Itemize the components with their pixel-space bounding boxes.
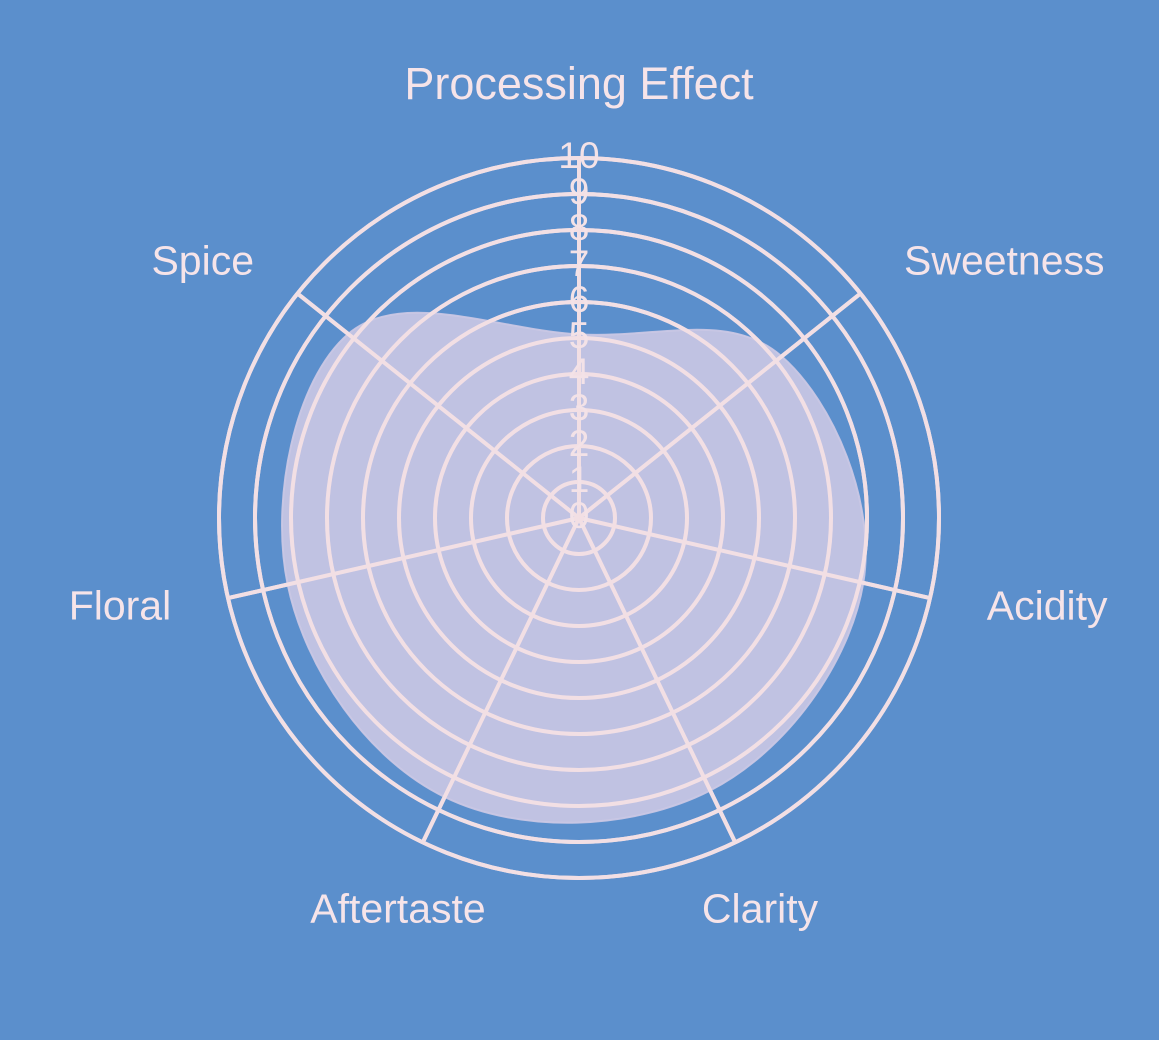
radial-tick-8: 8 [569,207,590,248]
radial-tick-0: 0 [569,495,590,536]
radial-tick-1: 1 [569,459,590,500]
radial-tick-4: 4 [569,351,590,392]
radar-chart-figure: 012345678910 SweetnessAcidityClarityAfte… [0,0,1159,1040]
radial-tick-6: 6 [569,279,590,320]
radial-tick-3: 3 [569,387,590,428]
radial-tick-7: 7 [569,243,590,284]
chart-title: Processing Effect [404,58,754,109]
radar-chart-canvas: 012345678910 SweetnessAcidityClarityAfte… [0,0,1159,1040]
axis-label-sweetness: Sweetness [904,237,1105,283]
axis-label-floral: Floral [69,583,172,629]
radial-tick-2: 2 [569,423,590,464]
radial-tick-5: 5 [569,315,590,356]
radial-tick-10: 10 [558,135,599,176]
axis-label-aftertaste: Aftertaste [310,885,485,931]
axis-label-clarity: Clarity [702,885,819,931]
axis-label-acidity: Acidity [987,583,1108,629]
axis-label-spice: Spice [151,237,254,283]
radial-tick-9: 9 [569,171,590,212]
